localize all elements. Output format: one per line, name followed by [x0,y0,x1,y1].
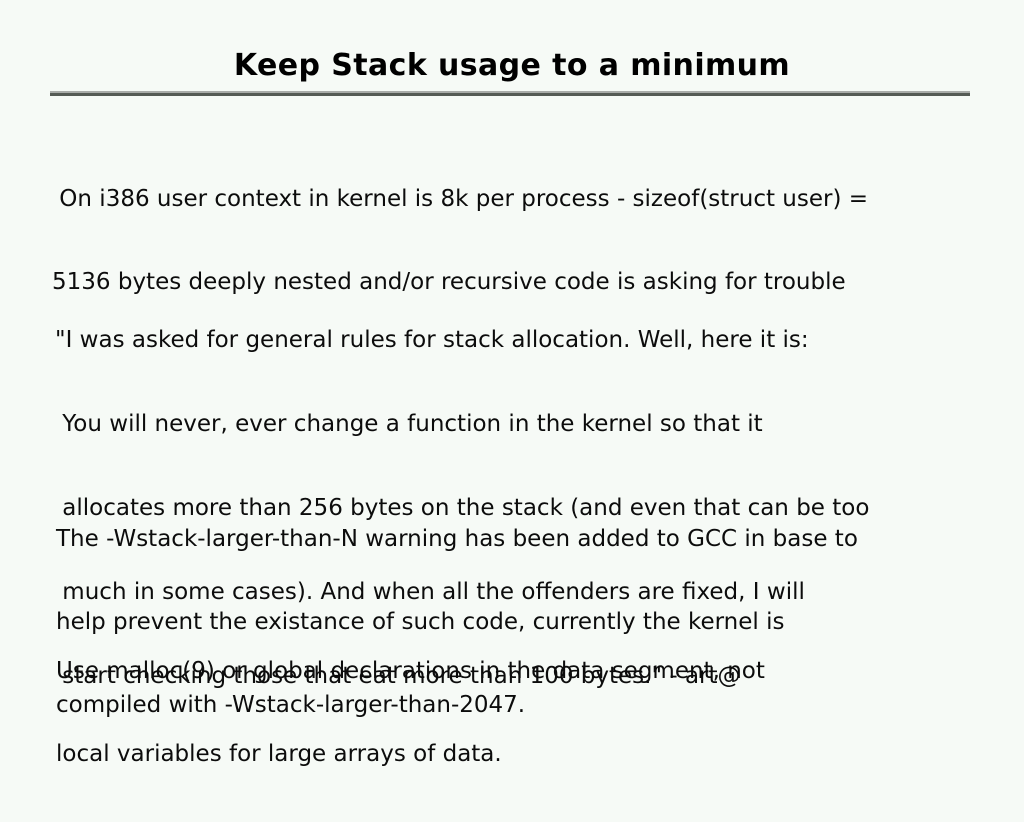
presentation-slide: Keep Stack usage to a minimum On i386 us… [0,0,1024,768]
quote-line: You will never, ever change a function i… [55,408,869,440]
intro-paragraph-line: On i386 user context in kernel is 8k per… [52,184,868,215]
title-divider-shadow [50,93,970,96]
malloc-advice-line: Use malloc(9) or global declarations in … [56,656,765,687]
malloc-advice-paragraph: Use malloc(9) or global declarations in … [56,604,765,822]
gcc-warning-line: The -Wstack-larger-than-N warning has be… [56,524,858,555]
page-title: Keep Stack usage to a minimum [0,48,1024,84]
quote-line: "I was asked for general rules for stack… [55,324,869,356]
title-divider-rule [50,91,970,97]
malloc-advice-line: local variables for large arrays of data… [56,739,765,770]
